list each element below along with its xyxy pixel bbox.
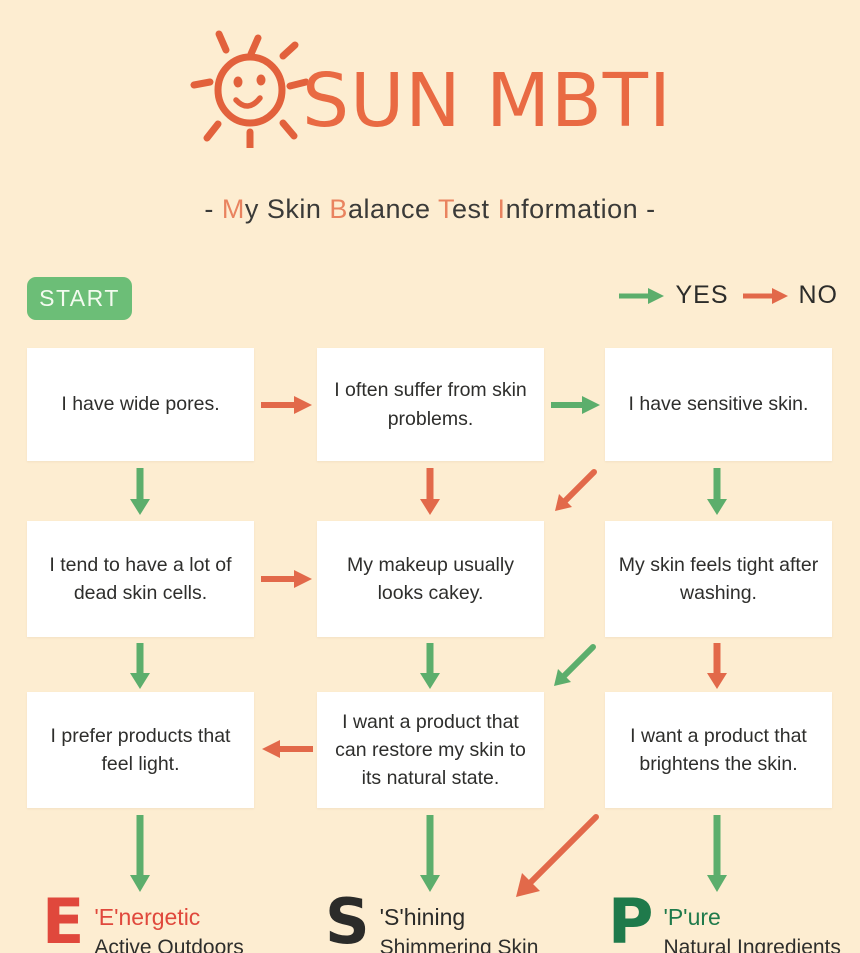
arrow-right-orange-icon: [743, 286, 789, 306]
question-box-q5[interactable]: My makeup usually looks cakey.: [317, 521, 544, 637]
connector-q2-to-q3: [551, 394, 601, 416]
connector-q5-to-q8: [418, 643, 442, 690]
connector-q3-to-q6: [705, 468, 729, 516]
result-item-energetic[interactable]: E 'E'nergetic Active Outdoors: [42, 898, 244, 953]
connector-q9-to-result-p: [705, 815, 729, 893]
result-item-pure[interactable]: P 'P'ure Natural Ingredients: [608, 898, 841, 953]
subtitle-letter-s: S: [267, 194, 286, 224]
infographic-root: SUN MBTI - My Skin Balance Test Informat…: [0, 0, 860, 953]
connector-q4-to-q7: [128, 643, 152, 690]
result-texts-p: 'P'ure Natural Ingredients: [663, 898, 840, 953]
result-subtitle-e: Active Outdoors: [94, 935, 243, 953]
legend-item-no: NO: [743, 281, 839, 310]
legend-label-no: NO: [799, 281, 839, 310]
question-box-q8[interactable]: I want a product that can restore my ski…: [317, 692, 544, 808]
subtitle-dash-left: -: [204, 194, 222, 224]
connector-q6-to-q8: [546, 640, 600, 694]
subtitle-letter-m: M: [222, 194, 245, 224]
legend-item-yes: YES: [619, 281, 728, 310]
subtitle-letter-i: I: [498, 194, 506, 224]
subtitle-dash-right: -: [638, 194, 656, 224]
subtitle-text-nformation: nformation: [506, 194, 639, 224]
header: SUN MBTI - My Skin Balance Test Informat…: [0, 0, 860, 250]
arrow-right-green-icon: [619, 286, 665, 306]
smiling-sun-icon: [188, 28, 308, 148]
result-letter-p: P: [608, 898, 653, 946]
result-subtitle-s: Shimmering Skin: [380, 935, 539, 953]
connector-q8-to-result-s: [418, 815, 442, 893]
legend-label-yes: YES: [675, 281, 728, 310]
result-title-p: 'P'ure: [663, 904, 840, 932]
connector-q7-to-result-e: [128, 815, 152, 893]
legend: YES NO: [619, 281, 838, 310]
question-box-q3[interactable]: I have sensitive skin.: [605, 348, 832, 461]
logo-row: SUN MBTI: [0, 28, 860, 148]
subtitle-text-kin: kin: [285, 194, 329, 224]
question-box-q7[interactable]: I prefer products that feel light.: [27, 692, 254, 808]
subtitle-text-alance: alance: [348, 194, 438, 224]
result-title-e: 'E'nergetic: [94, 904, 243, 932]
start-button[interactable]: START: [27, 277, 132, 320]
question-box-q2[interactable]: I often suffer from skin problems.: [317, 348, 544, 461]
connector-q3-to-q5: [548, 466, 600, 518]
question-box-q6[interactable]: My skin feels tight after washing.: [605, 521, 832, 637]
subtitle-letter-t: T: [438, 194, 452, 224]
connector-q2-to-q5: [418, 468, 442, 516]
result-letter-e: E: [42, 898, 84, 946]
connector-q9-to-result-s: [505, 810, 603, 908]
page-title: SUN MBTI: [302, 64, 672, 138]
page-subtitle: - My Skin Balance Test Information -: [0, 194, 860, 225]
connector-q8-to-q7: [261, 738, 313, 760]
result-subtitle-p: Natural Ingredients: [663, 935, 840, 953]
connector-q4-to-q5: [261, 568, 313, 590]
subtitle-text-y: y: [245, 194, 267, 224]
result-texts-e: 'E'nergetic Active Outdoors: [94, 898, 243, 953]
result-letter-s: S: [325, 898, 370, 946]
connector-q1-to-q2: [261, 394, 313, 416]
subtitle-letter-b: B: [329, 194, 348, 224]
result-title-s: 'S'hining: [380, 904, 539, 932]
result-texts-s: 'S'hining Shimmering Skin: [380, 898, 539, 953]
subtitle-text-est: est: [452, 194, 498, 224]
connector-q6-to-q9: [705, 643, 729, 690]
connector-q1-to-q4: [128, 468, 152, 516]
question-box-q1[interactable]: I have wide pores.: [27, 348, 254, 461]
result-item-shining[interactable]: S 'S'hining Shimmering Skin: [325, 898, 538, 953]
question-box-q9[interactable]: I want a product that brightens the skin…: [605, 692, 832, 808]
question-box-q4[interactable]: I tend to have a lot of dead skin cells.: [27, 521, 254, 637]
